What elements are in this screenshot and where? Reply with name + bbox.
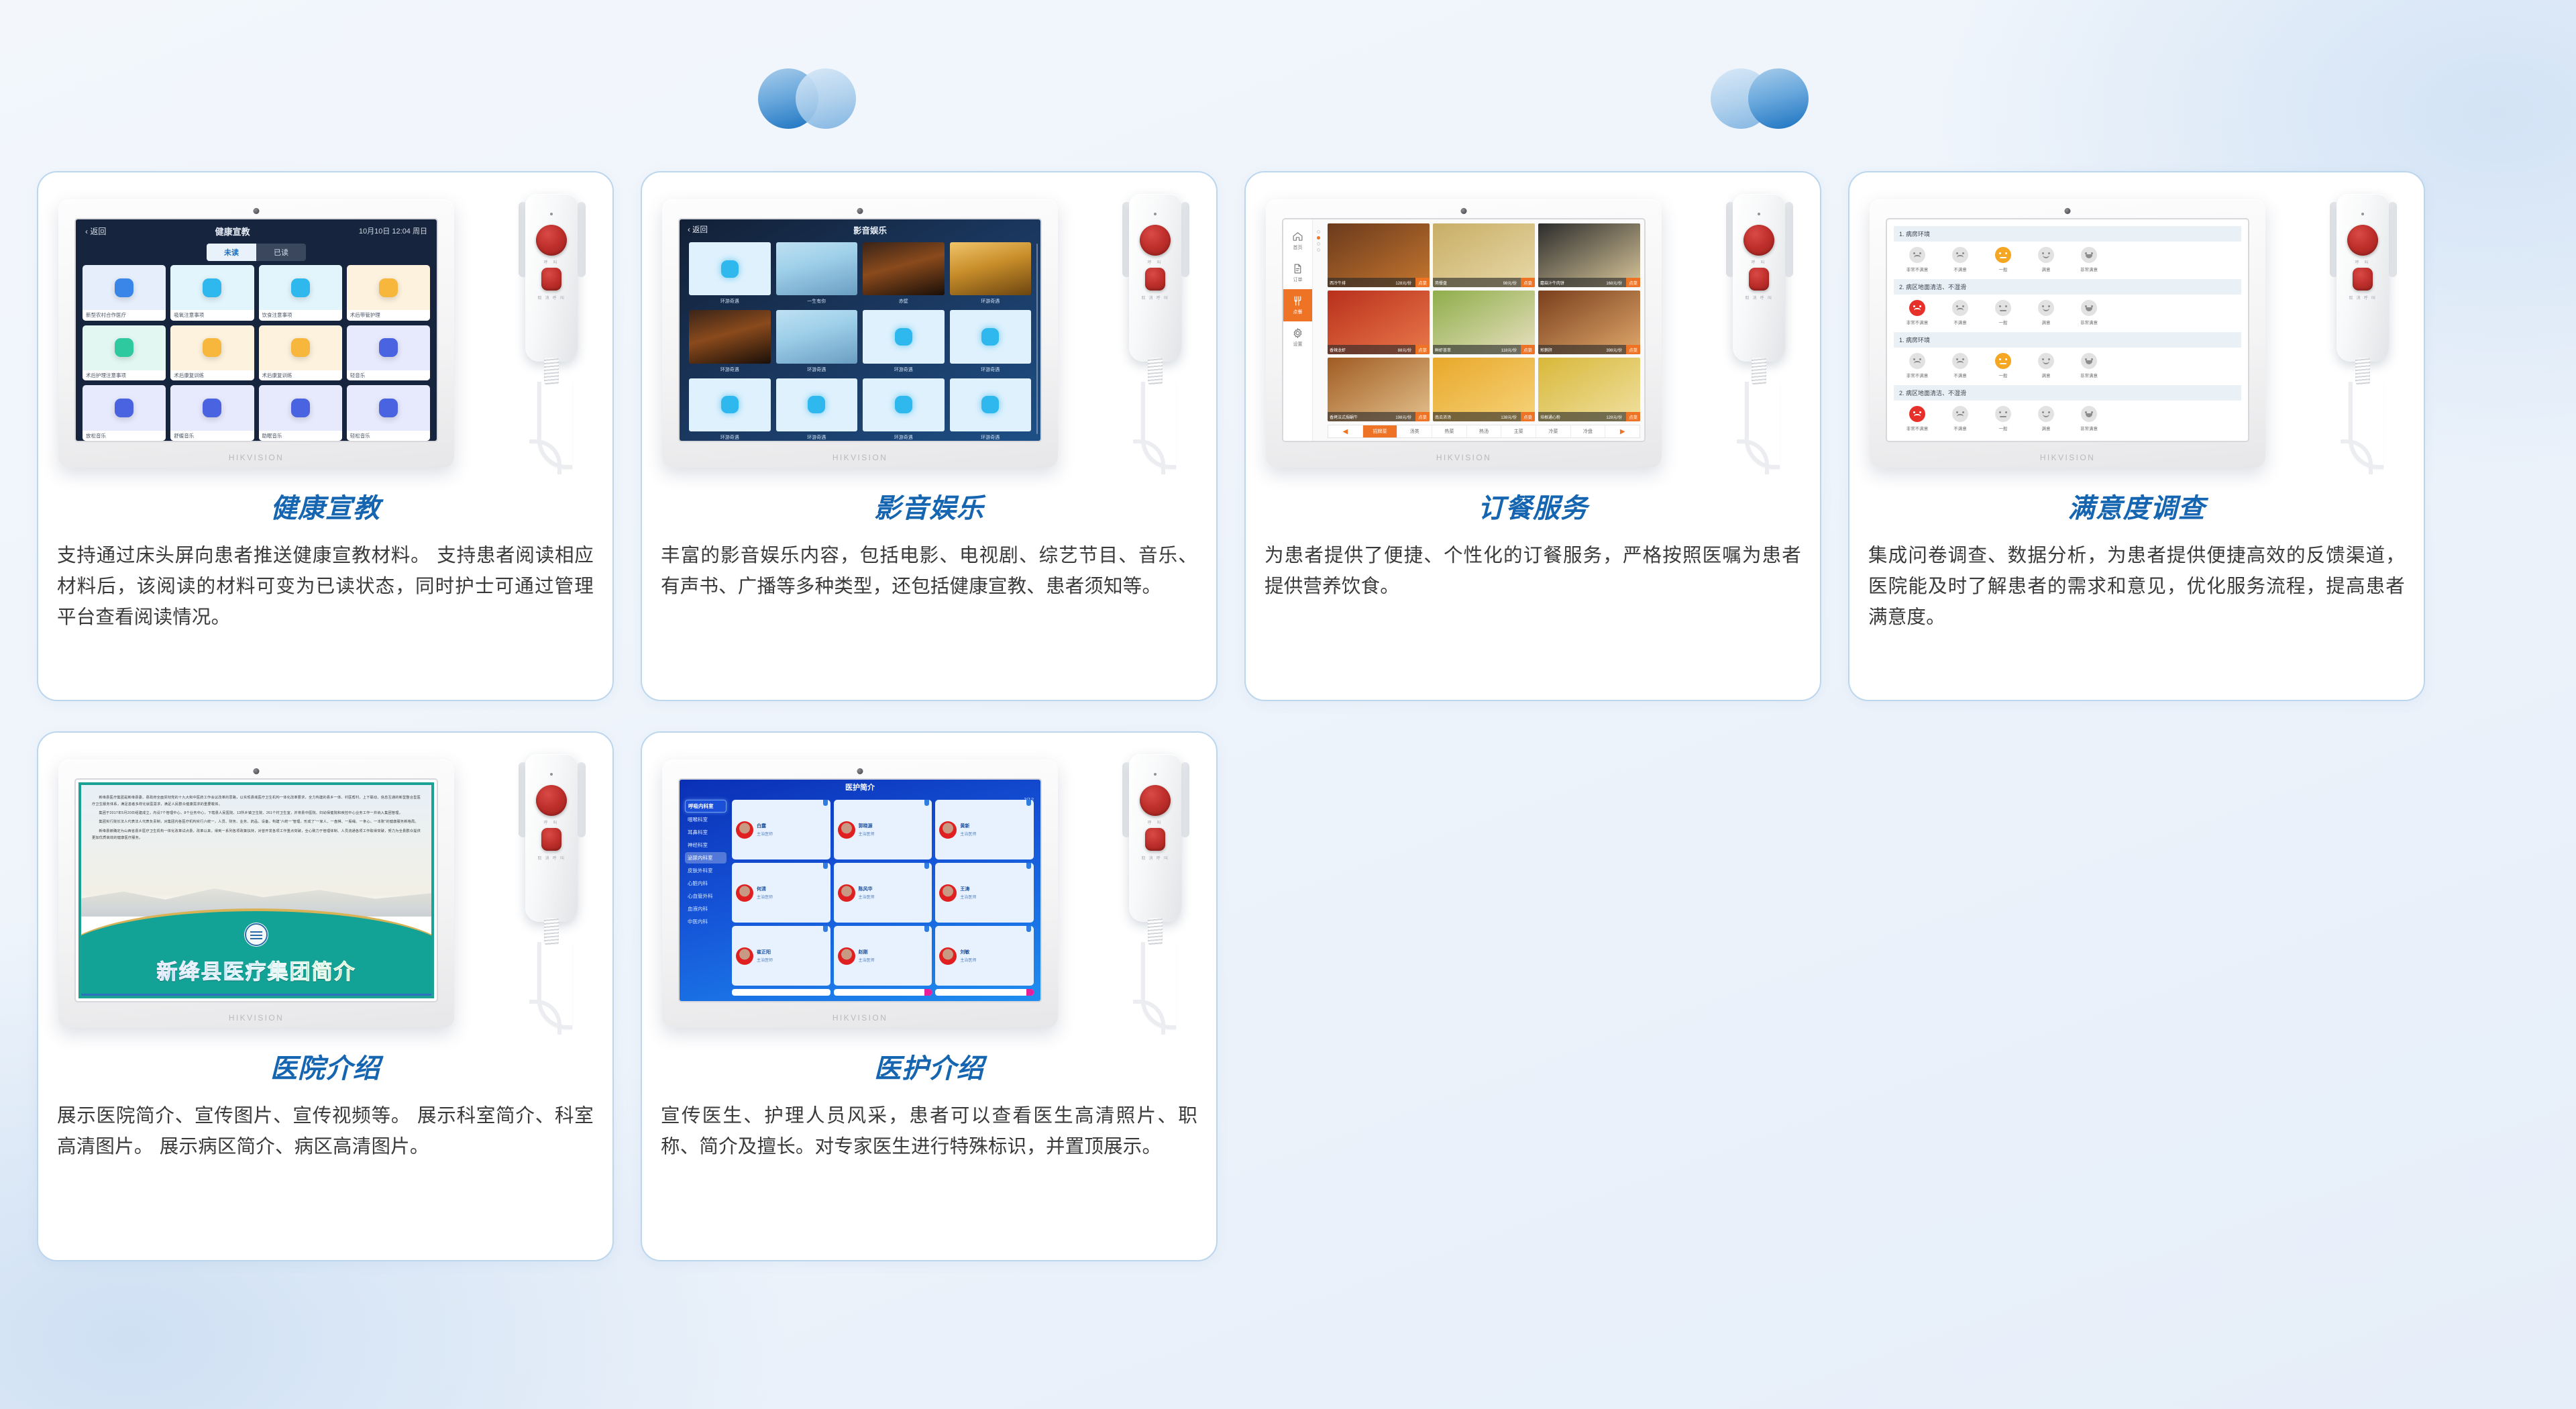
cancel-call-button[interactable] — [541, 268, 561, 291]
device-visual: ‹ 返回影音娱乐环游奇遇一生有你赤壁环游奇遇环游奇遇环游奇遇环游奇遇环游奇遇环游… — [642, 172, 1216, 494]
rating-label: 非常不满意 — [1907, 425, 1929, 431]
mouth — [2043, 308, 2049, 311]
rating-label: 非常不满意 — [1907, 319, 1929, 325]
dish-card[interactable]: 香烤法式焗蜗牛198元/份点菜 — [1328, 358, 1430, 421]
back-button[interactable]: ‹ 返回 — [688, 224, 708, 235]
department-item[interactable]: 耳鼻科室 — [685, 827, 727, 838]
eye-right — [1919, 252, 1921, 254]
poster-paragraph: 新绛县医疗集团是新绛县委、县政府全面贯彻党的十九大和中医药工作会议改革的思路，以… — [92, 794, 421, 808]
order-button[interactable]: 点菜 — [1415, 345, 1430, 354]
media-thumbnail — [863, 310, 945, 363]
rating-label: 一般 — [1999, 266, 2008, 272]
expert-badge-icon — [924, 926, 929, 932]
tile-icon-wrap — [170, 385, 254, 430]
rating-option[interactable]: 不满意 — [1946, 300, 1974, 325]
media-label: 环游奇遇 — [863, 431, 945, 441]
page-dot[interactable] — [1317, 248, 1320, 252]
bedside-tablet[interactable]: 首页订单点餐设置西冷牛排128元/份点菜简餐盘98元/份点菜蘑菇汁牛肉饼168元… — [1266, 199, 1662, 468]
call-button[interactable] — [536, 785, 567, 816]
order-button[interactable]: 点菜 — [1626, 278, 1640, 287]
rating-option[interactable]: 非常不满意 — [1903, 300, 1931, 325]
tile-icon-wrap — [170, 325, 254, 370]
dish-card[interactable]: 香辣龙虾88元/份点菜 — [1328, 291, 1430, 354]
category-tab[interactable]: 汤类 — [1397, 425, 1432, 437]
sidebar-item-label: 订单 — [1293, 276, 1303, 283]
category-arrow[interactable]: ◀ — [1328, 425, 1363, 437]
poster: 新绛县医疗集团是新绛县委、县政府全面贯彻党的十九大和中医药工作会议改革的思路，以… — [78, 782, 434, 998]
tile-item[interactable]: 舒缓音乐 — [170, 385, 254, 441]
tile-label: 放松音乐 — [83, 431, 166, 441]
cancel-call-label: 取 消 呼 叫 — [2349, 295, 2377, 301]
dish-price: 128元/份 — [1395, 280, 1413, 286]
mouth — [2086, 360, 2092, 364]
media-item[interactable]: 环游奇遇 — [950, 378, 1032, 441]
sidebar-item-order[interactable]: 订单 — [1283, 257, 1312, 289]
tile-label: 助眠音乐 — [259, 431, 342, 441]
call-handset[interactable]: 呼 叫取 消 呼 叫 — [2326, 190, 2401, 478]
rating-option[interactable]: 一般 — [1989, 353, 2017, 378]
dish-name: 煎鹅肝 — [1540, 347, 1603, 353]
category-arrow[interactable]: ▶ — [1605, 425, 1640, 437]
dish-name: 培根通心粉 — [1540, 414, 1603, 420]
media-item[interactable]: 环游奇遇 — [776, 310, 858, 372]
tile-item[interactable]: 轻松音乐 — [347, 385, 430, 441]
tile-icon-wrap — [259, 325, 342, 370]
tile-item[interactable]: 轻音乐 — [347, 325, 430, 381]
rating-label: 不满意 — [1953, 266, 1967, 272]
tile-item[interactable]: 新型农村合作医疗 — [83, 265, 166, 321]
mouth — [1957, 308, 1964, 311]
tile-label: 饮食注意事项 — [259, 310, 342, 321]
category-tab[interactable]: 招牌菜 — [1363, 425, 1398, 437]
rating-label: 一般 — [1999, 319, 2008, 325]
dish-info-bar: 培根通心粉128元/份点菜 — [1538, 412, 1640, 421]
call-button-label: 呼 叫 — [1148, 259, 1163, 265]
home-icon — [1292, 231, 1303, 242]
decor-circles-left — [758, 68, 885, 129]
question-heading: 2. 病区地面清洁、不湿滑 — [1894, 279, 2241, 295]
bedside-tablet[interactable]: ‹ 返回影音娱乐环游奇遇一生有你赤壁环游奇遇环游奇遇环游奇遇环游奇遇环游奇遇环游… — [662, 199, 1058, 468]
face-smile-icon — [2038, 406, 2054, 422]
rating-row: 非常不满意不满意一般满意非常满意 — [1894, 242, 2241, 276]
rating-option[interactable]: 非常满意 — [2075, 353, 2103, 378]
bottom-bar — [81, 994, 431, 996]
cancel-call-button[interactable] — [1145, 268, 1165, 291]
face-angry-icon — [1909, 300, 1925, 316]
dish-info-bar: 南瓜浓汤138元/份点菜 — [1433, 412, 1535, 421]
department-item[interactable]: 中医内科 — [685, 916, 727, 927]
card-description: 丰富的影音娱乐内容，包括电影、电视剧、综艺节目、音乐、有声书、广播等多种类型，还… — [661, 540, 1197, 602]
rating-label: 非常满意 — [2080, 372, 2098, 378]
rating-option[interactable]: 非常满意 — [2075, 247, 2103, 272]
eye-left — [1999, 358, 2001, 360]
dish-name: 鲜虾荟萃 — [1435, 347, 1499, 353]
camera-icon — [2065, 208, 2071, 214]
call-button[interactable] — [1743, 225, 1774, 256]
rating-label: 不满意 — [1953, 425, 1967, 431]
rating-option[interactable]: 非常满意 — [2075, 406, 2103, 431]
call-handset[interactable]: 呼 叫取 消 呼 叫 — [515, 750, 590, 1039]
rating-option[interactable]: 非常不满意 — [1903, 247, 1931, 272]
feature-card: 1. 病房环境非常不满意不满意一般满意非常满意2. 病区地面清洁、不湿滑非常不满… — [1848, 171, 2425, 701]
rating-option[interactable]: 非常不满意 — [1903, 353, 1931, 378]
order-button[interactable]: 点菜 — [1521, 412, 1535, 421]
media-thumbnail — [689, 242, 771, 295]
call-handset[interactable]: 呼 叫取 消 呼 叫 — [1722, 190, 1797, 478]
tile-icon-wrap — [170, 265, 254, 310]
doctor-card[interactable]: 崔正阳主治医师 — [732, 926, 830, 986]
sidebar-item-gear[interactable]: 设置 — [1283, 321, 1312, 354]
bedside-tablet[interactable]: ‹ 返回健康宣教10月10日 12:04 周日未读已读新型农村合作医疗吸氧注意事… — [58, 199, 454, 468]
rating-option[interactable]: 非常满意 — [2075, 300, 2103, 325]
eye-right — [2005, 358, 2007, 360]
eye-left — [1913, 411, 1915, 413]
order-button[interactable]: 点菜 — [1415, 278, 1430, 287]
bedside-tablet[interactable]: 新绛县医疗集团是新绛县委、县政府全面贯彻党的十九大和中医药工作会议改革的思路，以… — [58, 760, 454, 1028]
poster-text: 新绛县医疗集团是新绛县委、县政府全面贯彻党的十九大和中医药工作会议改革的思路，以… — [81, 785, 431, 841]
order-button[interactable]: 点菜 — [1626, 412, 1640, 421]
cancel-call-button[interactable] — [1145, 828, 1165, 851]
department-list: 呼吸内科室咽喉科室耳鼻科室神经科室泌尿内科室皮肤外科室心脏内科心血管外科血液内科… — [685, 800, 727, 996]
media-item[interactable]: 环游奇遇 — [689, 242, 771, 305]
doctor-name: 崔正阳 — [757, 949, 773, 955]
face-neutral-icon — [1995, 247, 2011, 263]
media-thumbnail — [776, 378, 858, 431]
card-description: 为患者提供了便捷、个性化的订餐服务，严格按照医嘱为患者提供营养饮食。 — [1265, 540, 1801, 602]
doctor-name: 白露 — [757, 823, 773, 829]
call-button-label: 呼 叫 — [2355, 259, 2371, 265]
eye-right — [1962, 358, 1964, 360]
dish-card[interactable]: 西冷牛排128元/份点菜 — [1328, 223, 1430, 287]
page-dots[interactable] — [1317, 230, 1320, 254]
tile-item[interactable]: 术后护理注意事项 — [83, 325, 166, 381]
nav-sidebar: 首页订单点餐设置 — [1283, 219, 1313, 441]
handset-body: 呼 叫取 消 呼 叫 — [1129, 754, 1181, 922]
call-button[interactable] — [536, 225, 567, 256]
category-tab[interactable]: 热菜 — [1432, 425, 1467, 437]
decor-circles-right — [1711, 68, 1838, 129]
page-dot[interactable] — [1317, 230, 1320, 233]
doctor-avatar — [736, 947, 753, 965]
rating-option[interactable]: 一般 — [1989, 406, 2017, 431]
rating-option[interactable]: 一般 — [1989, 247, 2017, 272]
call-handset[interactable]: 呼 叫取 消 呼 叫 — [515, 190, 590, 478]
eye-left — [1956, 252, 1958, 254]
dish-card[interactable]: 蘑菇汁牛肉饼168元/份点菜 — [1538, 223, 1640, 287]
category-tab[interactable]: 冷菜 — [1536, 425, 1571, 437]
face-sad-icon — [1952, 300, 1968, 316]
back-button[interactable]: ‹ 返回 — [85, 225, 106, 237]
media-item[interactable]: 环游奇遇 — [950, 310, 1032, 372]
department-item[interactable]: 呼吸内科室 — [685, 800, 727, 813]
doctor-avatar — [838, 884, 855, 902]
folder-icon — [379, 278, 398, 297]
rating-option[interactable]: 非常不满意 — [1903, 406, 1931, 431]
meal-body: 西冷牛排128元/份点菜简餐盘98元/份点菜蘑菇汁牛肉饼168元/份点菜香辣龙虾… — [1313, 219, 1644, 441]
page-dot[interactable] — [1317, 236, 1320, 240]
feature-card: ‹ 返回影音娱乐环游奇遇一生有你赤壁环游奇遇环游奇遇环游奇遇环游奇遇环游奇遇环游… — [641, 171, 1218, 701]
cancel-call-label: 取 消 呼 叫 — [1142, 295, 1169, 301]
rating-label: 非常满意 — [2080, 425, 2098, 431]
bedside-tablet[interactable]: 1. 病房环境非常不满意不满意一般满意非常满意2. 病区地面清洁、不湿滑非常不满… — [1870, 199, 2265, 468]
media-item[interactable]: 环游奇遇 — [776, 378, 858, 441]
dish-card[interactable]: 煎鹅肝398元/份点菜 — [1538, 291, 1640, 354]
mouth — [1914, 414, 1921, 417]
call-button-label: 呼 叫 — [1752, 259, 1767, 265]
tile-label: 术后康复训练 — [170, 370, 254, 381]
sidebar-item-utensils[interactable]: 点餐 — [1283, 289, 1312, 321]
tile-item[interactable]: 助眠音乐 — [259, 385, 342, 441]
doctor-card[interactable]: 陈风华主治医师 — [834, 863, 932, 923]
doctor-card[interactable]: 赵刚主治医师 — [834, 926, 932, 986]
rating-label: 非常满意 — [2080, 319, 2098, 325]
order-button[interactable]: 点菜 — [1521, 278, 1535, 287]
face-sad-icon — [1952, 406, 1968, 422]
sidebar-item-label: 首页 — [1293, 244, 1303, 251]
play-icon — [808, 396, 825, 413]
feature-card-grid: ‹ 返回健康宣教10月10日 12:04 周日未读已读新型农村合作医疗吸氧注意事… — [0, 171, 2576, 1261]
eye-left — [2042, 358, 2044, 360]
media-label: 一生有你 — [776, 295, 858, 305]
media-item[interactable]: 一生有你 — [776, 242, 858, 305]
order-button[interactable]: 点菜 — [1521, 345, 1535, 354]
rating-label: 满意 — [2042, 372, 2051, 378]
doctor-meta: 郭晓源主治医师 — [859, 823, 875, 837]
dish-card[interactable]: 简餐盘98元/份点菜 — [1433, 223, 1535, 287]
rating-option[interactable]: 满意 — [2032, 300, 2060, 325]
call-button[interactable] — [1140, 785, 1171, 816]
mouth — [1914, 255, 1921, 258]
eye-right — [1919, 305, 1921, 307]
tile-item[interactable]: 术后康复训练 — [170, 325, 254, 381]
led-indicator-icon — [1758, 213, 1760, 215]
media-thumbnail — [863, 242, 945, 295]
tile-item[interactable]: 术后康复训练 — [259, 325, 342, 381]
cancel-call-label: 取 消 呼 叫 — [1746, 295, 1773, 301]
face-neutral-icon — [1995, 353, 2011, 369]
card-description: 支持通过床头屏向患者推送健康宣教材料。 支持患者阅读相应材料后，该阅读的材料可变… — [57, 540, 594, 633]
handset-body: 呼 叫取 消 呼 叫 — [2337, 194, 2389, 362]
rating-option[interactable]: 满意 — [2032, 406, 2060, 431]
dish-name: 香辣龙虾 — [1330, 347, 1395, 353]
media-item[interactable]: 环游奇遇 — [863, 378, 945, 441]
department-item[interactable]: 血液内科 — [685, 903, 727, 915]
doctor-role: 主治医师 — [960, 831, 976, 837]
cancel-call-button[interactable] — [1749, 268, 1769, 291]
bedside-tablet[interactable]: 医护简介2/12呼吸内科室咽喉科室耳鼻科室神经科室泌尿内科室皮肤外科室心脏内科心… — [662, 760, 1058, 1028]
eye-left — [1999, 305, 2001, 307]
poster-paragraph: 集团实行院长法人代表法人代表负责制，对集团内各医疗机构实行六统一，人员、财务、业… — [92, 819, 421, 825]
cancel-call-button[interactable] — [2353, 268, 2373, 291]
tab-unread[interactable]: 未读 — [207, 244, 256, 261]
call-button[interactable] — [2347, 225, 2378, 256]
tile-item[interactable]: 放松音乐 — [83, 385, 166, 441]
rating-option[interactable]: 不满意 — [1946, 406, 1974, 431]
doctor-role: 主治医师 — [960, 894, 976, 900]
tile-item[interactable]: 吸氧注意事项 — [170, 265, 254, 321]
tile-item[interactable]: 术后带管护理 — [347, 265, 430, 321]
circle-light-icon — [796, 68, 856, 129]
gear-icon — [1292, 327, 1303, 339]
dish-info-bar: 煎鹅肝398元/份点菜 — [1538, 345, 1640, 354]
dish-name: 蘑菇汁牛肉饼 — [1540, 280, 1603, 286]
card-description: 宣传医生、护理人员风采，患者可以查看医生高清照片、职称、简介及擅长。对专家医生进… — [661, 1100, 1197, 1162]
order-button[interactable]: 点菜 — [1415, 412, 1430, 421]
eye-right — [2048, 252, 2050, 254]
device-visual: 医护简介2/12呼吸内科室咽喉科室耳鼻科室神经科室泌尿内科室皮肤外科室心脏内科心… — [642, 733, 1216, 1055]
media-thumbnail — [689, 378, 771, 431]
icon-wrap — [1292, 231, 1303, 242]
tablet-screen: 医护简介2/12呼吸内科室咽喉科室耳鼻科室神经科室泌尿内科室皮肤外科室心脏内科心… — [680, 780, 1040, 1001]
department-item[interactable]: 泌尿内科室 — [685, 852, 727, 864]
progress-bar — [732, 989, 830, 996]
face-grin-icon — [2081, 247, 2097, 263]
tab-bar: 未读已读 — [76, 244, 437, 261]
poster-paragraph: 新绛县被确定为山西省县乡医疗卫生机构一体化改革试点县，改革以来，得到一系列各项政… — [92, 828, 421, 841]
cable-coil — [1148, 918, 1163, 945]
department-item[interactable]: 心血管外科 — [685, 890, 727, 902]
doctor-card[interactable]: 刘敏主治医师 — [935, 926, 1034, 986]
device-brand: HIKVISION — [229, 1013, 284, 1023]
doctor-card[interactable]: 王涛主治医师 — [935, 863, 1034, 923]
doctor-card[interactable]: 白露主治医师 — [732, 800, 830, 859]
dish-price: 138元/份 — [1501, 414, 1518, 420]
call-handset[interactable]: 呼 叫取 消 呼 叫 — [1118, 750, 1193, 1039]
rating-option[interactable]: 满意 — [2032, 247, 2060, 272]
mouth — [1914, 361, 1921, 364]
dish-card[interactable]: 鲜虾荟萃118元/份点菜 — [1433, 291, 1535, 354]
media-label: 环游奇遇 — [950, 431, 1032, 441]
media-thumbnail — [776, 242, 858, 295]
call-handset[interactable]: 呼 叫取 消 呼 叫 — [1118, 190, 1193, 478]
dish-price: 198元/份 — [1395, 414, 1413, 420]
rating-label: 非常不满意 — [1907, 372, 1929, 378]
screen-title: 健康宣教 — [106, 225, 359, 238]
expert-badge-icon — [823, 926, 828, 932]
folder-icon — [291, 338, 310, 357]
rating-label: 一般 — [1999, 372, 2008, 378]
call-button[interactable] — [1140, 225, 1171, 256]
category-tab[interactable]: 冷盘 — [1571, 425, 1606, 437]
feature-card: 医护简介2/12呼吸内科室咽喉科室耳鼻科室神经科室泌尿内科室皮肤外科室心脏内科心… — [641, 731, 1218, 1261]
media-label: 环游奇遇 — [689, 431, 771, 441]
media-item[interactable]: 环游奇遇 — [950, 242, 1032, 305]
doctor-card[interactable]: 郭晓源主治医师 — [834, 800, 932, 859]
rating-label: 满意 — [2042, 266, 2051, 272]
tile-icon-wrap — [347, 385, 430, 430]
media-thumbnail — [950, 242, 1032, 295]
face-smile-icon — [2038, 353, 2054, 369]
rating-option[interactable]: 不满意 — [1946, 353, 1974, 378]
doctor-meta: 王涛主治医师 — [960, 886, 976, 900]
cable-coil — [544, 358, 559, 384]
rating-option[interactable]: 满意 — [2032, 353, 2060, 378]
mouth — [2000, 310, 2006, 311]
mouth — [2086, 307, 2092, 311]
tile-item[interactable]: 饮食注意事项 — [259, 265, 342, 321]
media-item[interactable]: 赤壁 — [863, 242, 945, 305]
feature-card: 首页订单点餐设置西冷牛排128元/份点菜简餐盘98元/份点菜蘑菇汁牛肉饼168元… — [1244, 171, 1821, 701]
led-indicator-icon — [550, 773, 553, 776]
rating-option[interactable]: 不满意 — [1946, 247, 1974, 272]
play-icon — [895, 396, 912, 413]
media-item[interactable]: 环游奇遇 — [689, 378, 771, 441]
doctor-meta: 赵刚主治医师 — [859, 949, 875, 963]
face-sad-icon — [1952, 247, 1968, 263]
doctor-meta: 黄新主治医师 — [960, 823, 976, 837]
eye-left — [2042, 411, 2044, 413]
doctor-avatar — [838, 947, 855, 965]
handset-wing-right — [1181, 762, 1189, 837]
dish-price: 168元/份 — [1606, 280, 1623, 286]
dish-grid: 西冷牛排128元/份点菜简餐盘98元/份点菜蘑菇汁牛肉饼168元/份点菜香辣龙虾… — [1328, 223, 1640, 421]
scrollbar[interactable] — [1036, 244, 1038, 434]
category-tab[interactable]: 热汤 — [1467, 425, 1502, 437]
doctor-card[interactable]: 何清主治医师 — [732, 863, 830, 923]
dish-price: 128元/份 — [1606, 414, 1623, 420]
page-dot[interactable] — [1317, 242, 1320, 246]
doctor-avatar — [736, 821, 753, 839]
tab-read[interactable]: 已读 — [256, 244, 306, 261]
music-icon — [291, 399, 310, 417]
mouth — [2043, 361, 2049, 364]
dish-info-bar: 香辣龙虾88元/份点菜 — [1328, 345, 1430, 354]
dish-info-bar: 香烤法式焗蜗牛198元/份点菜 — [1328, 412, 1430, 421]
media-item[interactable]: 环游奇遇 — [863, 310, 945, 372]
video-icon — [291, 278, 310, 297]
sidebar-item-label: 设置 — [1293, 341, 1303, 348]
cancel-call-button[interactable] — [541, 828, 561, 851]
mouth — [2086, 413, 2092, 417]
device-brand: HIKVISION — [229, 453, 284, 462]
device-brand: HIKVISION — [833, 1013, 888, 1023]
department-item[interactable]: 神经科室 — [685, 839, 727, 851]
face-smile-icon — [2038, 300, 2054, 316]
rating-option[interactable]: 一般 — [1989, 300, 2017, 325]
dish-card[interactable]: 南瓜浓汤138元/份点菜 — [1433, 358, 1535, 421]
department-item[interactable]: 心脏内科 — [685, 878, 727, 889]
tablet-screen: ‹ 返回健康宣教10月10日 12:04 周日未读已读新型农村合作医疗吸氧注意事… — [76, 219, 437, 441]
category-tab[interactable]: 主菜 — [1501, 425, 1536, 437]
media-thumbnail — [950, 378, 1032, 431]
dish-info-bar: 西冷牛排128元/份点菜 — [1328, 278, 1430, 287]
tile-icon-wrap — [83, 265, 166, 310]
cable-coil — [1752, 358, 1766, 384]
rating-row: 非常不满意不满意一般满意非常满意 — [1894, 348, 2241, 382]
icon-wrap — [1292, 263, 1303, 274]
doctor-card[interactable]: 黄新主治医师 — [935, 800, 1034, 859]
department-item[interactable]: 咽喉科室 — [685, 814, 727, 825]
department-item[interactable]: 皮肤外科室 — [685, 865, 727, 876]
sidebar-item-label: 点餐 — [1293, 309, 1303, 315]
sidebar-item-home[interactable]: 首页 — [1283, 225, 1312, 257]
doctor-role: 主治医师 — [859, 894, 875, 900]
rating-label: 不满意 — [1953, 372, 1967, 378]
mouth — [1957, 255, 1964, 258]
tile-label: 术后护理注意事项 — [83, 370, 166, 381]
progress-bar — [935, 989, 1034, 996]
page-header — [0, 0, 2576, 171]
card-description: 集成问卷调查、数据分析，为患者提供便捷高效的反馈渠道，医院能及时了解患者的需求和… — [1868, 540, 2405, 633]
order-button[interactable]: 点菜 — [1626, 345, 1640, 354]
dish-info-bar: 简餐盘98元/份点菜 — [1433, 278, 1535, 287]
poster-title: 新绛县医疗集团简介 — [81, 955, 431, 985]
expert-badge-icon — [823, 863, 828, 869]
media-item[interactable]: 环游奇遇 — [689, 310, 771, 372]
dish-card[interactable]: 培根通心粉128元/份点菜 — [1538, 358, 1640, 421]
play-icon — [981, 396, 999, 413]
tag-badge — [924, 989, 932, 996]
